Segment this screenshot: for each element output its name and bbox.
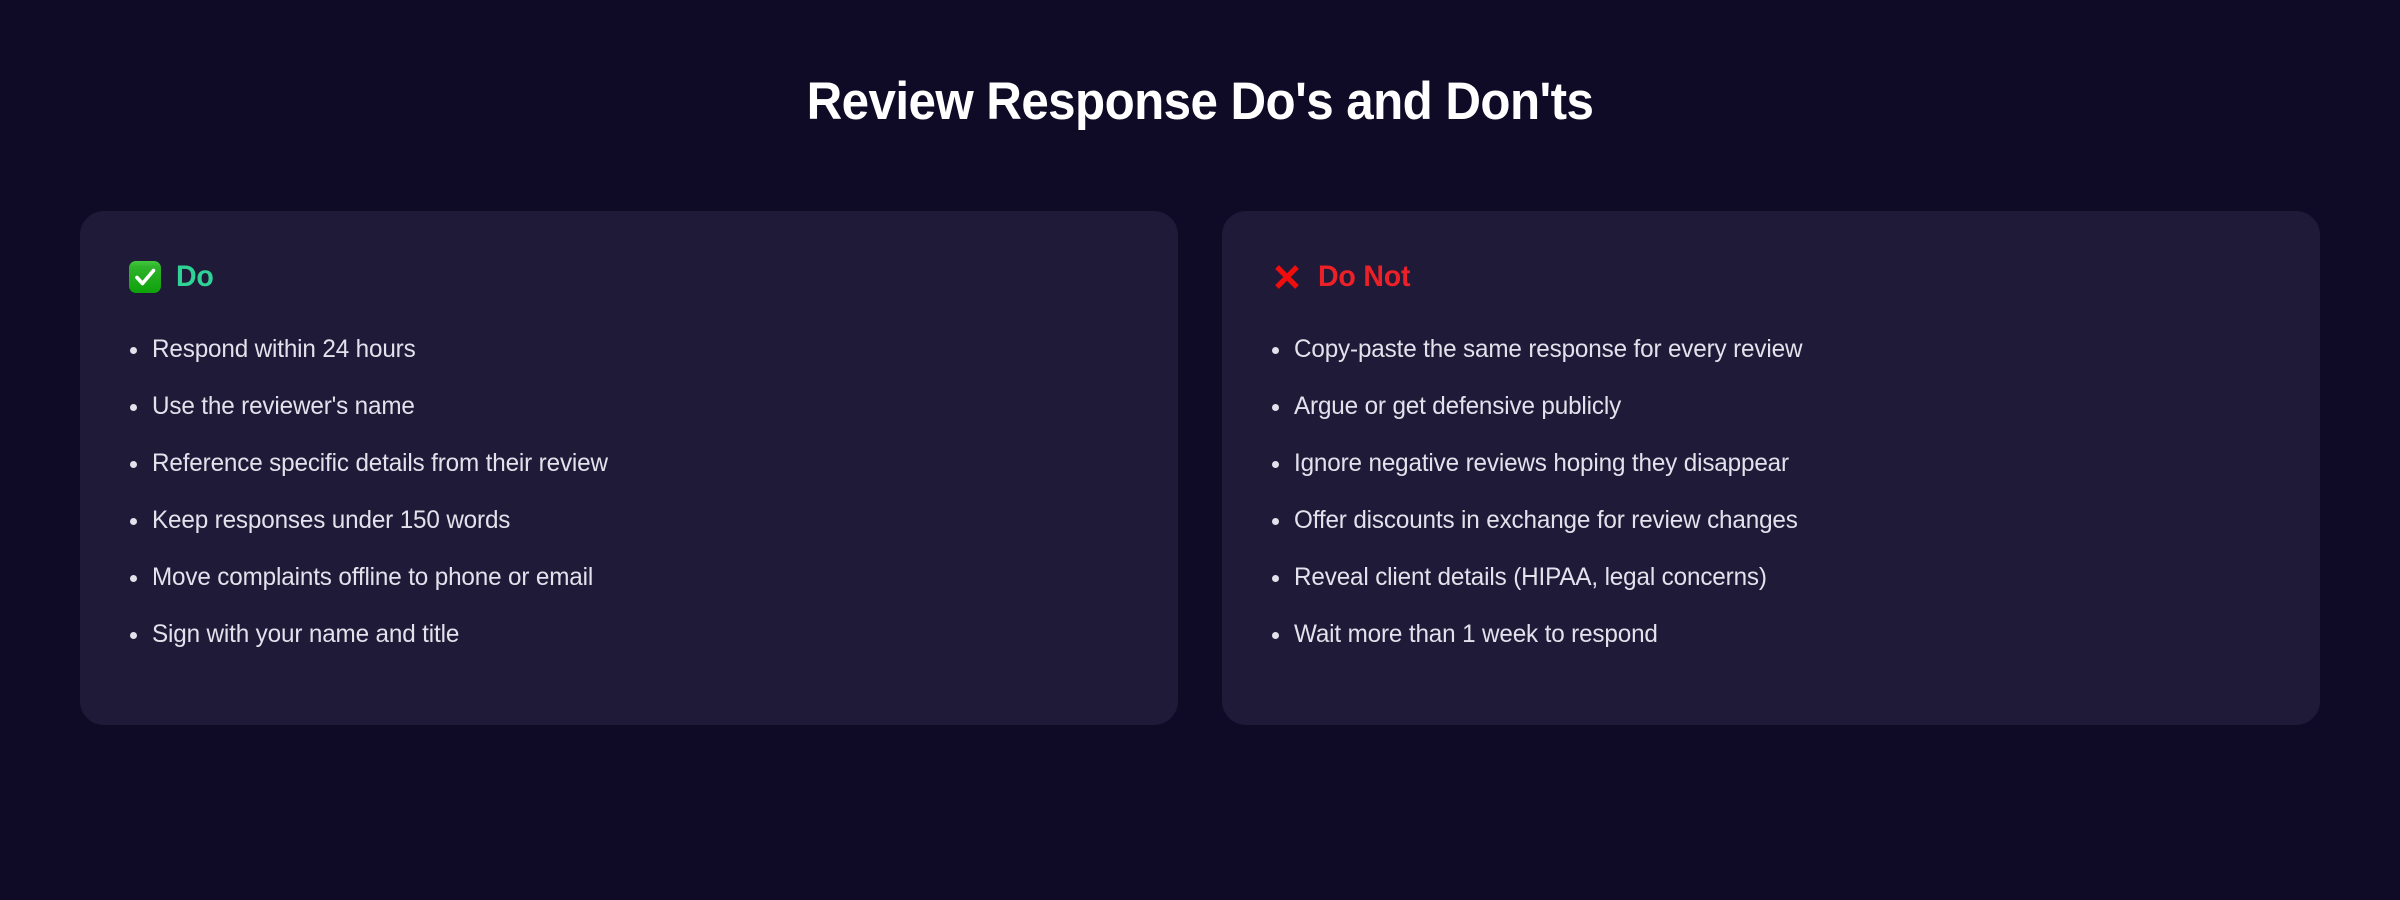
list-item: Argue or get defensive publicly	[1270, 378, 2272, 435]
do-list: Respond within 24 hours Use the reviewer…	[128, 321, 1130, 663]
list-item: Sign with your name and title	[128, 606, 1130, 663]
bullet-icon	[130, 575, 137, 582]
bullet-icon	[130, 404, 137, 411]
list-item-label: Move complaints offline to phone or emai…	[152, 565, 593, 590]
bullet-icon	[130, 461, 137, 468]
do-card: Do Respond within 24 hours Use the revie…	[80, 211, 1178, 725]
list-item-label: Sign with your name and title	[152, 622, 459, 647]
list-item-label: Argue or get defensive publicly	[1294, 394, 1621, 419]
list-item-label: Keep responses under 150 words	[152, 508, 510, 533]
bullet-icon	[130, 632, 137, 639]
list-item: Wait more than 1 week to respond	[1270, 606, 2272, 663]
do-not-list: Copy-paste the same response for every r…	[1270, 321, 2272, 663]
list-item-label: Reference specific details from their re…	[152, 451, 608, 476]
white-heavy-check-mark-icon	[128, 260, 162, 294]
list-item: Ignore negative reviews hoping they disa…	[1270, 435, 2272, 492]
list-item: Use the reviewer's name	[128, 378, 1130, 435]
bullet-icon	[1272, 461, 1279, 468]
bullet-icon	[1272, 518, 1279, 525]
do-not-card: Do Not Copy-paste the same response for …	[1222, 211, 2320, 725]
list-item: Respond within 24 hours	[128, 321, 1130, 378]
list-item-label: Copy-paste the same response for every r…	[1294, 337, 1802, 362]
list-item: Reference specific details from their re…	[128, 435, 1130, 492]
list-item: Copy-paste the same response for every r…	[1270, 321, 2272, 378]
list-item-label: Ignore negative reviews hoping they disa…	[1294, 451, 1789, 476]
cross-mark-icon	[1270, 260, 1304, 294]
list-item-label: Reveal client details (HIPAA, legal conc…	[1294, 565, 1767, 590]
bullet-icon	[1272, 632, 1279, 639]
list-item: Keep responses under 150 words	[128, 492, 1130, 549]
list-item-label: Use the reviewer's name	[152, 394, 415, 419]
bullet-icon	[1272, 404, 1279, 411]
bullet-icon	[1272, 347, 1279, 354]
list-item: Move complaints offline to phone or emai…	[128, 549, 1130, 606]
list-item: Reveal client details (HIPAA, legal conc…	[1270, 549, 2272, 606]
cards-row: Do Respond within 24 hours Use the revie…	[80, 211, 2320, 725]
do-card-header: Do	[128, 257, 1130, 297]
page-root: Review Response Do's and Don'ts	[0, 0, 2400, 900]
do-not-card-heading: Do Not	[1318, 262, 1410, 292]
do-not-card-header: Do Not	[1270, 257, 2272, 297]
list-item-label: Wait more than 1 week to respond	[1294, 622, 1658, 647]
bullet-icon	[130, 347, 137, 354]
list-item-label: Respond within 24 hours	[152, 337, 416, 362]
list-item-label: Offer discounts in exchange for review c…	[1294, 508, 1798, 533]
bullet-icon	[130, 518, 137, 525]
list-item: Offer discounts in exchange for review c…	[1270, 492, 2272, 549]
page-title: Review Response Do's and Don'ts	[84, 74, 2316, 130]
do-card-heading: Do	[176, 262, 214, 292]
bullet-icon	[1272, 575, 1279, 582]
